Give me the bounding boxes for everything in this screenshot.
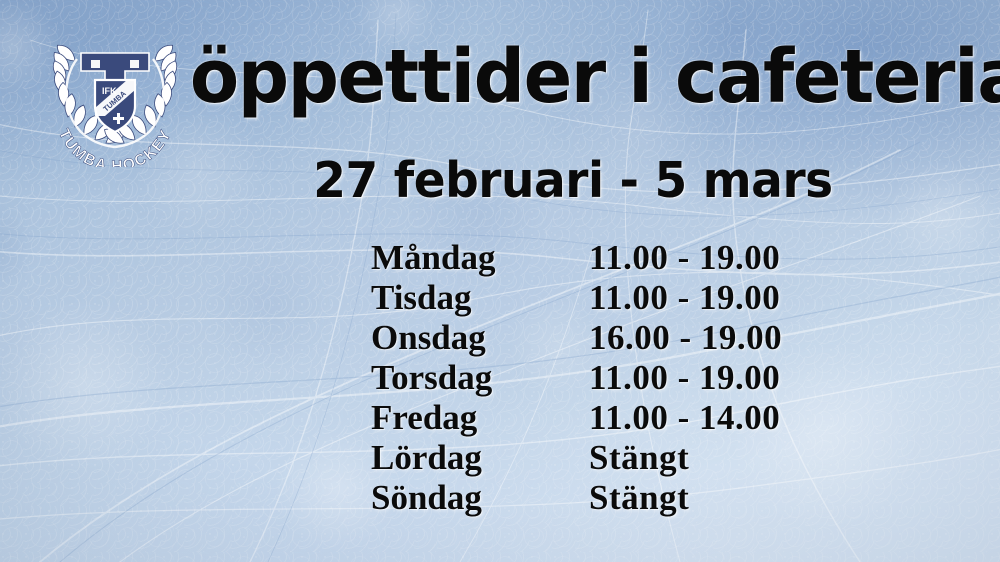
schedule-hours-value: Stängt xyxy=(589,478,841,518)
opening-hours-list: Måndag11.00 - 19.00Tisdag11.00 - 19.00On… xyxy=(371,238,841,518)
date-range-subtitle: 27 februari - 5 mars xyxy=(194,156,952,205)
schedule-day-label: Söndag xyxy=(371,478,589,518)
schedule-hours-value: 11.00 - 19.00 xyxy=(589,238,841,278)
schedule-day-label: Torsdag xyxy=(371,358,589,398)
schedule-row: Tisdag11.00 - 19.00 xyxy=(371,278,841,318)
schedule-hours-value: Stängt xyxy=(589,438,841,478)
schedule-hours-value: 16.00 - 19.00 xyxy=(589,318,841,358)
schedule-day-label: Lördag xyxy=(371,438,589,478)
schedule-hours-value: 11.00 - 19.00 xyxy=(589,278,841,318)
schedule-row: Fredag11.00 - 14.00 xyxy=(371,398,841,438)
schedule-day-label: Måndag xyxy=(371,238,589,278)
schedule-row: LördagStängt xyxy=(371,438,841,478)
schedule-day-label: Onsdag xyxy=(371,318,589,358)
schedule-row: Onsdag16.00 - 19.00 xyxy=(371,318,841,358)
ifk-tumba-hockey-logo: IFK TUMBA TUMBA HOCKEY xyxy=(47,27,183,167)
schedule-hours-value: 11.00 - 14.00 xyxy=(589,398,841,438)
schedule-row: SöndagStängt xyxy=(371,478,841,518)
page-title: öppettider i cafeterian xyxy=(190,40,956,114)
schedule-hours-value: 11.00 - 19.00 xyxy=(589,358,841,398)
cafeteria-opening-hours-poster: IFK TUMBA TUMBA HOCKEY öppettider i cafe… xyxy=(0,0,1000,562)
schedule-day-label: Fredag xyxy=(371,398,589,438)
schedule-row: Torsdag11.00 - 19.00 xyxy=(371,358,841,398)
schedule-day-label: Tisdag xyxy=(371,278,589,318)
schedule-row: Måndag11.00 - 19.00 xyxy=(371,238,841,278)
